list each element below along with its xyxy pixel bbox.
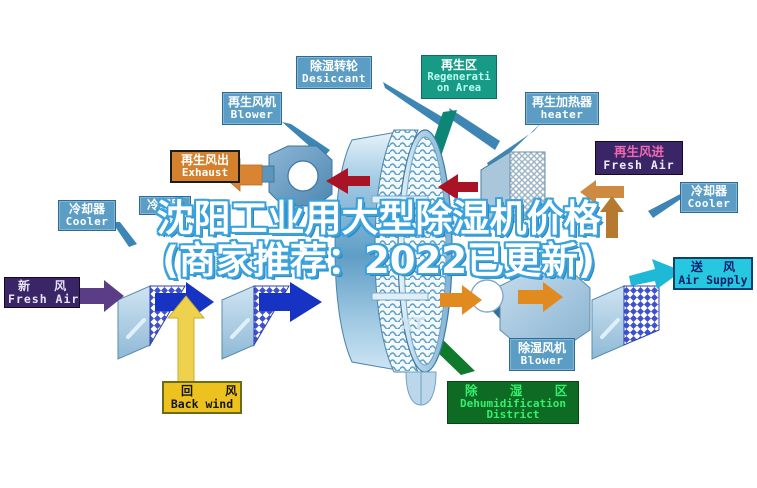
regeneration-heater xyxy=(481,152,545,230)
label-air-supply-cn: 送 风 xyxy=(678,261,748,274)
label-desiccant-en: Desiccant xyxy=(301,73,367,85)
label-regen-fresh-air[interactable]: 再生风进 Fresh Air xyxy=(595,141,683,175)
label-back-wind-en: Back wind xyxy=(167,398,237,410)
label-fresh-air-cn: 新 风 xyxy=(8,280,76,293)
label-exhaust[interactable]: 再生风出 Exhaust xyxy=(170,150,240,183)
watermark-xt: XT xyxy=(400,315,425,335)
label-regeneration-area[interactable]: 再生区 Regenerati on Area xyxy=(421,55,497,99)
label-dehum-blower[interactable]: 除湿风机 Blower xyxy=(509,338,575,371)
label-regen-fresh-air-cn: 再生风进 xyxy=(600,145,678,159)
label-exhaust-en: Exhaust xyxy=(175,167,235,179)
label-dehum-blower-en: Blower xyxy=(514,355,570,367)
label-cooler-right-cn: 冷却器 xyxy=(684,185,734,198)
label-cooler-mid[interactable]: 冷却器 xyxy=(139,196,191,215)
label-regen-blower-cn: 再生风机 xyxy=(227,96,277,109)
label-regen-area-en2: on Area xyxy=(425,83,493,94)
label-cooler-right[interactable]: 冷却器 Cooler xyxy=(680,182,738,213)
regeneration-blower xyxy=(262,146,332,206)
schematic-canvas: XT xyxy=(0,0,757,488)
label-air-supply-en: Air Supply xyxy=(678,274,748,286)
label-cooler-left[interactable]: 冷却器 Cooler xyxy=(58,200,116,231)
schematic-svg: XT xyxy=(0,0,757,488)
leader-desiccant-2 xyxy=(449,108,500,150)
label-back-wind[interactable]: 回 风 Back wind xyxy=(162,381,242,414)
label-cooler-mid-cn: 冷却器 xyxy=(143,199,187,212)
label-dehumidification-district[interactable]: 除 湿 区 Dehumidification District xyxy=(447,381,579,424)
fresh-air-arrow xyxy=(78,280,124,312)
label-air-supply[interactable]: 送 风 Air Supply xyxy=(673,257,753,290)
label-cooler-right-en: Cooler xyxy=(684,198,734,210)
label-regen-blower[interactable]: 再生风机 Blower xyxy=(222,92,282,125)
label-desiccant[interactable]: 除湿转轮 Desiccant xyxy=(296,56,372,89)
label-regen-heater-en: heater xyxy=(530,109,594,121)
label-regen-area-cn: 再生区 xyxy=(425,59,493,72)
label-back-wind-cn: 回 风 xyxy=(167,385,237,398)
label-desiccant-cn: 除湿转轮 xyxy=(301,60,367,73)
label-fresh-air-en: Fresh Air xyxy=(8,293,76,305)
label-regen-heater-cn: 再生加热器 xyxy=(530,96,594,109)
label-regen-heater[interactable]: 再生加热器 heater xyxy=(525,92,599,125)
label-fresh-air[interactable]: 新 风 Fresh Air xyxy=(4,277,80,308)
label-cooler-left-en: Cooler xyxy=(62,216,112,228)
regen-intake-arrow xyxy=(580,180,624,204)
label-cooler-left-cn: 冷却器 xyxy=(62,203,112,216)
label-dehum-district-en2: District xyxy=(451,409,575,421)
regen-intake-up-arrow xyxy=(600,196,624,238)
label-exhaust-cn: 再生风出 xyxy=(175,154,235,167)
desiccant-rotor: XT xyxy=(335,130,452,405)
label-dehum-district-cn: 除 湿 区 xyxy=(451,384,575,398)
label-dehum-blower-cn: 除湿风机 xyxy=(514,342,570,355)
label-regen-fresh-air-en: Fresh Air xyxy=(600,159,678,171)
dehumidification-blower xyxy=(471,272,590,345)
label-regen-blower-en: Blower xyxy=(227,109,277,121)
